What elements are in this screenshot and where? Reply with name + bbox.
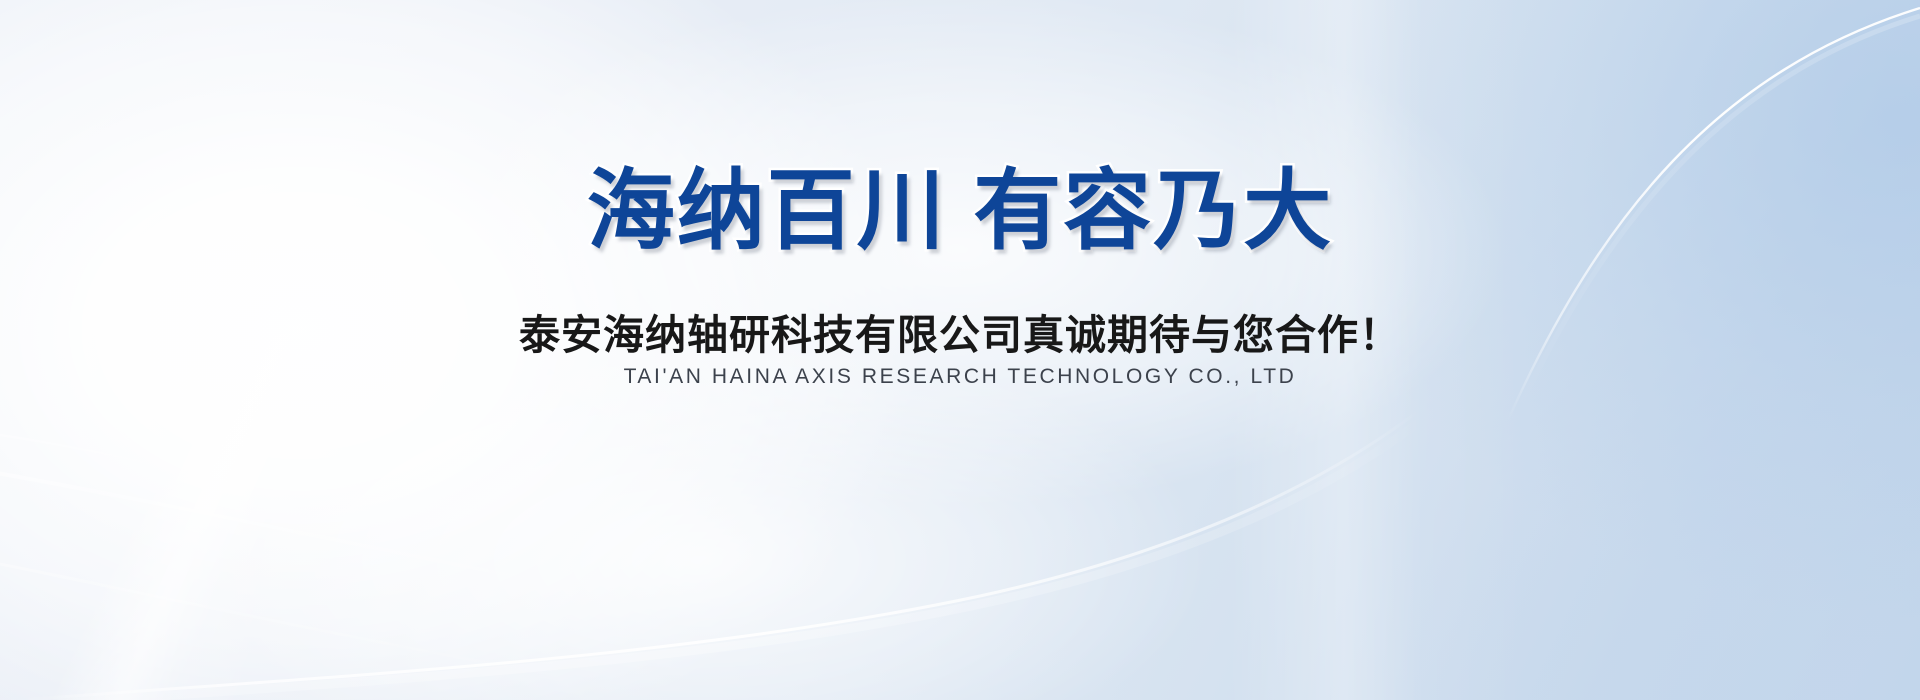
banner-content: 海纳百川 有容乃大 泰安海纳轴研科技有限公司真诚期待与您合作！ TAI'AN H…: [0, 0, 1920, 700]
banner-headline: 海纳百川 有容乃大: [0, 163, 1920, 258]
hero-banner: 海纳百川 有容乃大 泰安海纳轴研科技有限公司真诚期待与您合作！ TAI'AN H…: [0, 0, 1920, 700]
banner-subtitle-english: TAI'AN HAINA AXIS RESEARCH TECHNOLOGY CO…: [0, 362, 1920, 391]
banner-subtitle: 泰安海纳轴研科技有限公司真诚期待与您合作！: [0, 310, 1920, 361]
